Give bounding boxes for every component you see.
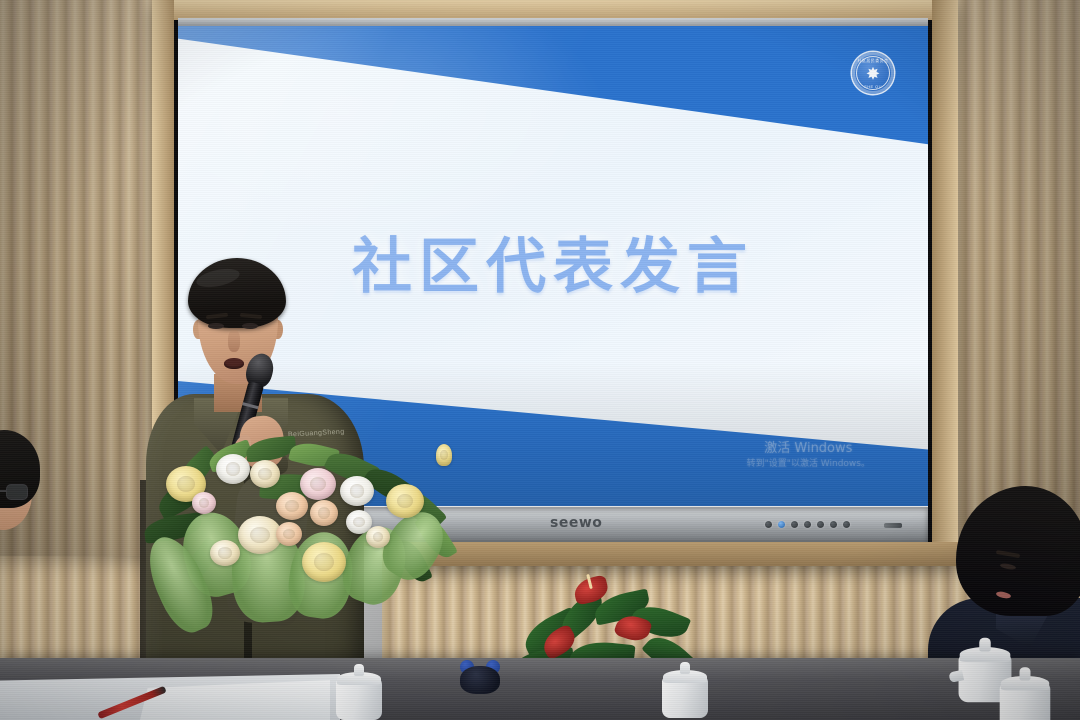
frame-right-moulding (932, 0, 958, 566)
toy-head (460, 666, 500, 694)
seewo-brand-label: seewo (550, 515, 602, 531)
frame-top-moulding (152, 0, 958, 20)
attendee-right-hair (956, 486, 1080, 616)
emblem-glyph: ✸ (866, 65, 880, 82)
flower-arrangement (150, 430, 480, 660)
rose-bloom (192, 492, 216, 514)
watermark-line-2: 转到"设置"以激活 Windows。 (747, 458, 870, 470)
emblem-arc-top: 社区居民委员会 (852, 58, 894, 64)
presenter-eye-right (242, 323, 258, 329)
home-button[interactable] (778, 521, 785, 528)
conference-room-photo: 社区居民委员会 ✸ SHE QU 社区代表发言 激活 Windows 转到"设置… (0, 0, 1080, 720)
emblem-arc-bottom: SHE QU (852, 84, 894, 89)
rose-bloom (386, 484, 424, 518)
volume-up-button[interactable] (817, 521, 824, 528)
power-button[interactable] (765, 521, 772, 528)
menu-button[interactable] (830, 521, 837, 528)
input-button[interactable] (791, 521, 798, 528)
rose-bloom (300, 468, 336, 500)
toy-figure (460, 660, 500, 694)
volume-down-button[interactable] (804, 521, 811, 528)
rose-bloom (276, 492, 308, 520)
rose-bloom (310, 500, 338, 526)
rose-bloom (276, 522, 302, 546)
rose-bloom (302, 542, 346, 582)
rose-bloom (366, 526, 390, 548)
community-emblem-icon: 社区居民委员会 ✸ SHE QU (852, 52, 894, 94)
slide-top-blue-band (178, 26, 928, 237)
presenter-mouth (224, 358, 244, 369)
back-button[interactable] (843, 521, 850, 528)
rose-bloom (216, 454, 250, 484)
presenter-eye-left (208, 323, 224, 329)
rose-bud (436, 444, 452, 466)
rose-bloom (340, 476, 374, 506)
rose-bloom (250, 460, 280, 488)
windows-activation-watermark: 激活 Windows 转到"设置"以激活 Windows。 (747, 440, 870, 470)
rose-bloom (210, 540, 240, 566)
presenter-hair (188, 258, 286, 328)
presenter-nose (228, 330, 240, 352)
teacup-lidded (1000, 667, 1051, 720)
teacup-lidded (662, 662, 708, 718)
glasses-icon (0, 484, 32, 500)
watermark-line-1: 激活 Windows (747, 440, 870, 458)
bezel-button-row[interactable] (765, 521, 850, 528)
teacup-lidded (336, 664, 382, 720)
